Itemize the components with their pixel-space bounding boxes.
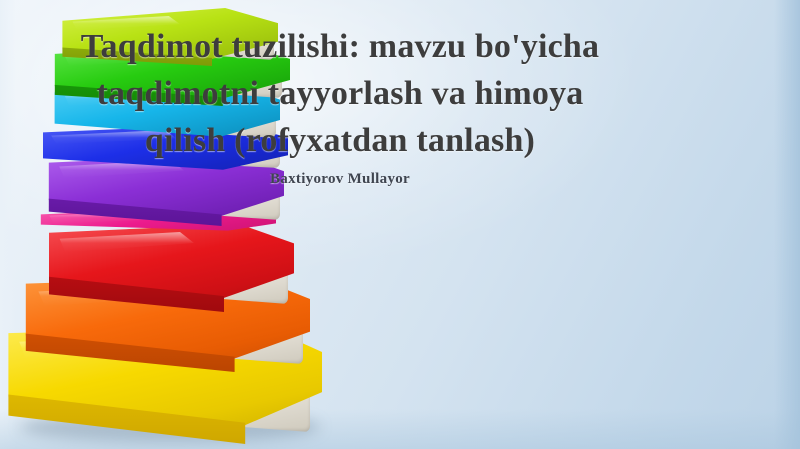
background-right-edge	[774, 0, 800, 449]
title-text-block: Taqdimot tuzilishi: mavzu bo'yicha taqdi…	[60, 24, 620, 188]
page-title: Taqdimot tuzilishi: mavzu bo'yicha taqdi…	[60, 24, 620, 165]
presentation-slide: Taqdimot tuzilishi: mavzu bo'yicha taqdi…	[0, 0, 800, 449]
book-red	[44, 224, 294, 312]
slide-author: Baxtiyorov Mullayor	[60, 171, 620, 188]
